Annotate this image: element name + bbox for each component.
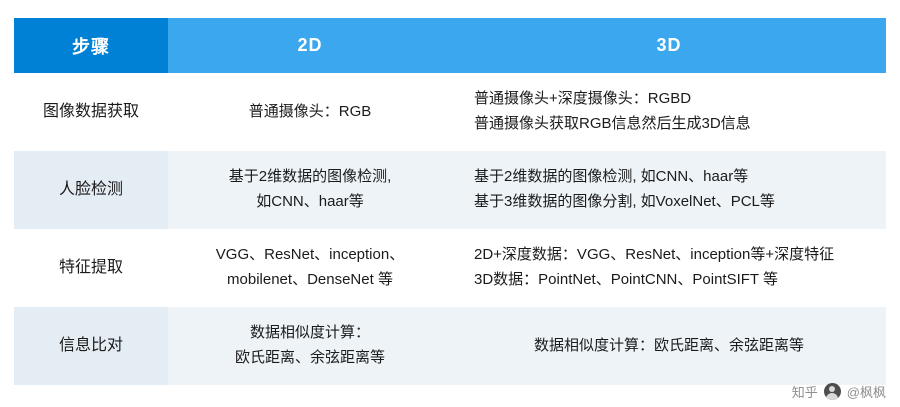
- row-step-label: 信息比对: [14, 307, 168, 385]
- cell-line: VGG、ResNet、inception、: [168, 243, 452, 268]
- cell-line: 欧氏距离、余弦距离等: [168, 346, 452, 371]
- cell-line: 基于2维数据的图像检测,: [168, 165, 452, 190]
- cell-line: 普通摄像头获取RGB信息然后生成3D信息: [474, 112, 886, 137]
- cell-line: 3D数据：PointNet、PointCNN、PointSIFT 等: [474, 268, 886, 293]
- table-header: 步骤 2D 3D: [14, 18, 886, 73]
- cell-line: 基于2维数据的图像检测, 如CNN、haar等: [474, 165, 886, 190]
- watermark: 知乎 @枫枫: [792, 382, 886, 401]
- avatar-icon: [824, 383, 841, 400]
- table-row: 图像数据获取 普通摄像头：RGB 普通摄像头+深度摄像头：RGBD 普通摄像头获…: [14, 73, 886, 151]
- cell-line: 数据相似度计算：: [168, 321, 452, 346]
- zhihu-logo-icon: 知乎: [792, 382, 818, 401]
- table-header-row: 步骤 2D 3D: [14, 18, 886, 73]
- cell-line: 普通摄像头：RGB: [168, 100, 452, 125]
- row-step-label: 特征提取: [14, 229, 168, 307]
- table-body: 图像数据获取 普通摄像头：RGB 普通摄像头+深度摄像头：RGBD 普通摄像头获…: [14, 73, 886, 385]
- table-row: 信息比对 数据相似度计算： 欧氏距离、余弦距离等 数据相似度计算：欧氏距离、余弦…: [14, 307, 886, 385]
- row-2d-cell: 普通摄像头：RGB: [168, 73, 452, 151]
- row-step-label: 人脸检测: [14, 151, 168, 229]
- header-cell-3d: 3D: [452, 18, 886, 73]
- page-root: 步骤 2D 3D 图像数据获取 普通摄像头：RGB 普通摄像头+深度摄像头：RG…: [0, 0, 900, 407]
- comparison-table: 步骤 2D 3D 图像数据获取 普通摄像头：RGB 普通摄像头+深度摄像头：RG…: [14, 18, 886, 385]
- cell-line: 数据相似度计算：欧氏距离、余弦距离等: [452, 334, 886, 359]
- header-cell-step: 步骤: [14, 18, 168, 73]
- table-row: 特征提取 VGG、ResNet、inception、 mobilenet、Den…: [14, 229, 886, 307]
- cell-line: 如CNN、haar等: [168, 190, 452, 215]
- row-step-label: 图像数据获取: [14, 73, 168, 151]
- header-cell-2d: 2D: [168, 18, 452, 73]
- cell-line: 基于3维数据的图像分割, 如VoxelNet、PCL等: [474, 190, 886, 215]
- row-3d-cell: 数据相似度计算：欧氏距离、余弦距离等: [452, 307, 886, 385]
- table-row: 人脸检测 基于2维数据的图像检测, 如CNN、haar等 基于2维数据的图像检测…: [14, 151, 886, 229]
- row-2d-cell: VGG、ResNet、inception、 mobilenet、DenseNet…: [168, 229, 452, 307]
- row-3d-cell: 2D+深度数据：VGG、ResNet、inception等+深度特征 3D数据：…: [452, 229, 886, 307]
- row-2d-cell: 基于2维数据的图像检测, 如CNN、haar等: [168, 151, 452, 229]
- cell-line: mobilenet、DenseNet 等: [168, 268, 452, 293]
- row-3d-cell: 基于2维数据的图像检测, 如CNN、haar等 基于3维数据的图像分割, 如Vo…: [452, 151, 886, 229]
- row-2d-cell: 数据相似度计算： 欧氏距离、余弦距离等: [168, 307, 452, 385]
- cell-line: 普通摄像头+深度摄像头：RGBD: [474, 87, 886, 112]
- row-3d-cell: 普通摄像头+深度摄像头：RGBD 普通摄像头获取RGB信息然后生成3D信息: [452, 73, 886, 151]
- cell-line: 2D+深度数据：VGG、ResNet、inception等+深度特征: [474, 243, 886, 268]
- watermark-username: @枫枫: [847, 382, 886, 401]
